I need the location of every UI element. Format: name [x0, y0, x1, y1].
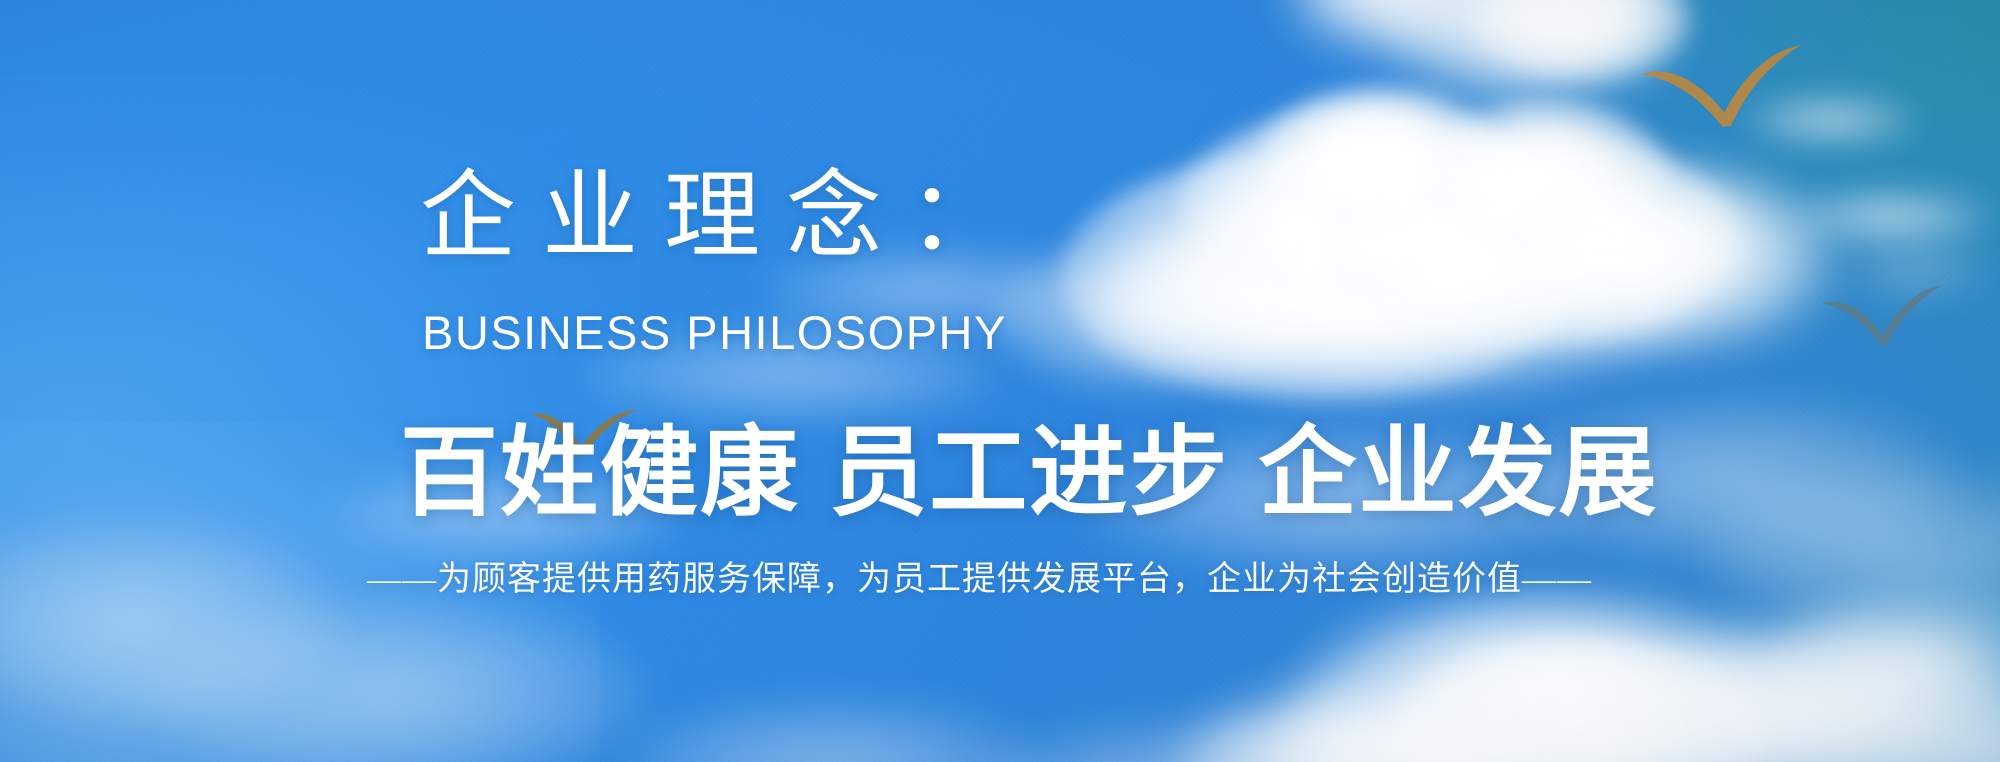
banner-content: 企业理念： BUSINESS PHILOSOPHY 百姓健康 员工进步 企业发展… [0, 0, 2000, 762]
banner-title-chinese: 企业理念： [420, 168, 1030, 266]
banner-slogan: 百姓健康 员工进步 企业发展 [400, 421, 1658, 525]
business-philosophy-banner: 企业理念： BUSINESS PHILOSOPHY 百姓健康 员工进步 企业发展… [0, 0, 2000, 762]
banner-title-english: BUSINESS PHILOSOPHY [422, 305, 1007, 360]
banner-tagline: ——为顾客提供用药服务保障，为员工提供发展平台，企业为社会创造价值—— [367, 551, 1592, 600]
banner-title-row: 企业理念： [420, 168, 1030, 266]
